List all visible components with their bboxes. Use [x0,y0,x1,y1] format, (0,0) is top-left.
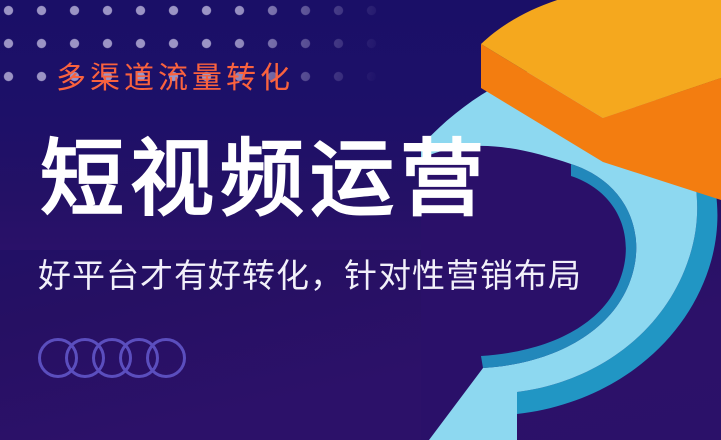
subtitle-text: 好平台才有好转化，针对性营销布局 [38,258,582,298]
eyebrow-text: 多渠道流量转化 [56,64,294,94]
purple-ring-icon-5 [146,338,186,378]
page-title: 短视频运营 [40,134,490,225]
decor-rings-bottom-left [38,338,208,388]
promo-banner: 多渠道流量转化 短视频运营 好平台才有好转化，针对性营销布局 [0,0,721,440]
